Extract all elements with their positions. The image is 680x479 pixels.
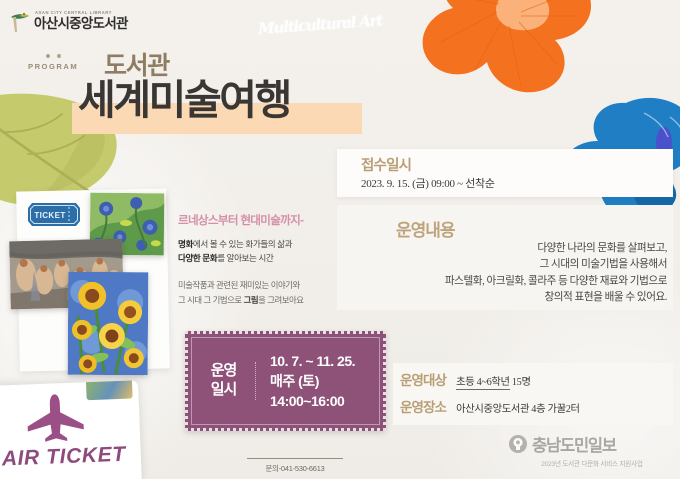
page-title: 세계미술여행: [78, 79, 290, 122]
press-circle-icon: [508, 434, 528, 454]
svg-text:TICKET: TICKET: [34, 211, 65, 220]
meta-place-key: 운영장소: [400, 396, 446, 416]
meta-target-underlined: 초등 4~6학년: [456, 377, 510, 390]
air-ticket-peek-photo: [86, 380, 133, 400]
intro-bold-1: 명화: [178, 239, 193, 249]
press-logo-block: 충남도민일보 2023년 도서관 다문화 서비스 지원사업: [508, 432, 676, 468]
photo-sunflowers: [68, 272, 149, 376]
content-line-2: 그 시대의 미술기법을 사용해서: [540, 259, 667, 270]
meta-target-key: 운영대상: [400, 369, 446, 389]
schedule-value-line-3: 14:00~16:00: [270, 393, 344, 409]
meta-place-value: 아산시중앙도서관 4층 가꿀2터: [456, 400, 580, 415]
program-content-card: 운영내용 다양한 나라의 문화를 살펴보고, 그 시대의 미술기법을 사용해서 …: [337, 205, 673, 310]
content-line-3: 파스텔화, 아크릴화, 콜라주 등 다양한 재료와 기법으로: [445, 276, 667, 287]
logo-english: ASAN CITY CENTRAL LIBRARY: [34, 11, 128, 15]
poster-root: ASAN CITY CENTRAL LIBRARY 아산시중앙도서관 Multi…: [0, 0, 680, 479]
schedule-ticket-inner: 운영 일시 10. 7. ~ 11. 25. 매주 (토) 14:00~16:0…: [191, 337, 380, 425]
library-book-mark-icon: [10, 11, 30, 33]
contact-text: 문의-041-530-6613: [230, 463, 360, 474]
meta-row-place: 운영장소 아산시중앙도서관 4층 가꿀2터: [400, 396, 580, 416]
program-meta-card: 운영대상 초등 4~6학년 15명 운영장소 아산시중앙도서관 4층 가꿀2터: [393, 363, 673, 425]
library-logo: ASAN CITY CENTRAL LIBRARY 아산시중앙도서관: [10, 8, 128, 33]
registration-heading: 접수일시: [361, 154, 411, 175]
schedule-value-line-1: 10. 7. ~ 11. 25.: [270, 353, 355, 369]
program-label: PROGRAM: [28, 62, 78, 71]
schedule-label-line-2: 일시: [211, 381, 237, 398]
schedule-label-line-1: 운영: [211, 362, 237, 379]
program-dots-icon: [28, 54, 78, 58]
press-name: 충남도민일보: [532, 432, 616, 456]
press-subtitle: 2023년 도서관 다문화 서비스 지원사업: [508, 458, 676, 468]
registration-value: 2023. 9. 15. (금) 09:00 ~ 선착순: [361, 175, 495, 191]
ticket-stamp-icon: TICKET: [26, 201, 82, 228]
meta-target-rest: 15명: [512, 377, 531, 388]
intro-text-5: 을 그려보아요: [258, 295, 303, 305]
air-ticket-card: AIR TICKET: [0, 380, 142, 479]
schedule-ticket-box: 운영 일시 10. 7. ~ 11. 25. 매주 (토) 14:00~16:0…: [185, 331, 386, 431]
meta-row-target: 운영대상 초등 4~6학년 15명: [400, 369, 531, 389]
intro-text-3: 미술작품과 관련된 재미있는 이야기와: [178, 280, 300, 290]
intro-bold-2: 다양한 문화: [178, 253, 217, 263]
contact-divider: [247, 458, 343, 459]
content-line-4: 창의적 표현을 배울 수 있어요.: [544, 292, 667, 303]
schedule-value-line-2: 매주 (토): [270, 373, 319, 389]
press-logo-row: 충남도민일보: [508, 432, 676, 456]
intro-text-2: 를 알아보는 시간: [217, 253, 273, 263]
schedule-ticket-label: 운영 일시: [192, 362, 256, 400]
registration-card: 접수일시 2023. 9. 15. (금) 09:00 ~ 선착순: [337, 149, 673, 197]
content-line-1: 다양한 나라의 문화를 살펴보고,: [537, 243, 667, 254]
schedule-ticket-value: 10. 7. ~ 11. 25. 매주 (토) 14:00~16:00: [256, 351, 379, 412]
intro-text-4: 그 시대 그 기법으로: [178, 295, 244, 305]
title-kicker: 도서관: [104, 54, 169, 79]
logo-korean: 아산시중앙도서관: [34, 17, 128, 31]
program-content-body: 다양한 나라의 문화를 살펴보고, 그 시대의 미술기법을 사용해서 파스텔화,…: [347, 241, 667, 307]
program-tag: PROGRAM: [28, 54, 78, 71]
intro-text-1: 에서 볼 수 있는 화가들의 삶과: [193, 239, 292, 249]
airplane-icon: [24, 391, 88, 443]
meta-target-value: 초등 4~6학년 15명: [456, 373, 531, 388]
contact-block: 문의-041-530-6613: [230, 458, 360, 474]
air-ticket-label: AIR TICKET: [1, 443, 126, 472]
intro-bold-3: 그림: [244, 295, 259, 305]
program-content-heading: 운영내용: [396, 216, 455, 241]
